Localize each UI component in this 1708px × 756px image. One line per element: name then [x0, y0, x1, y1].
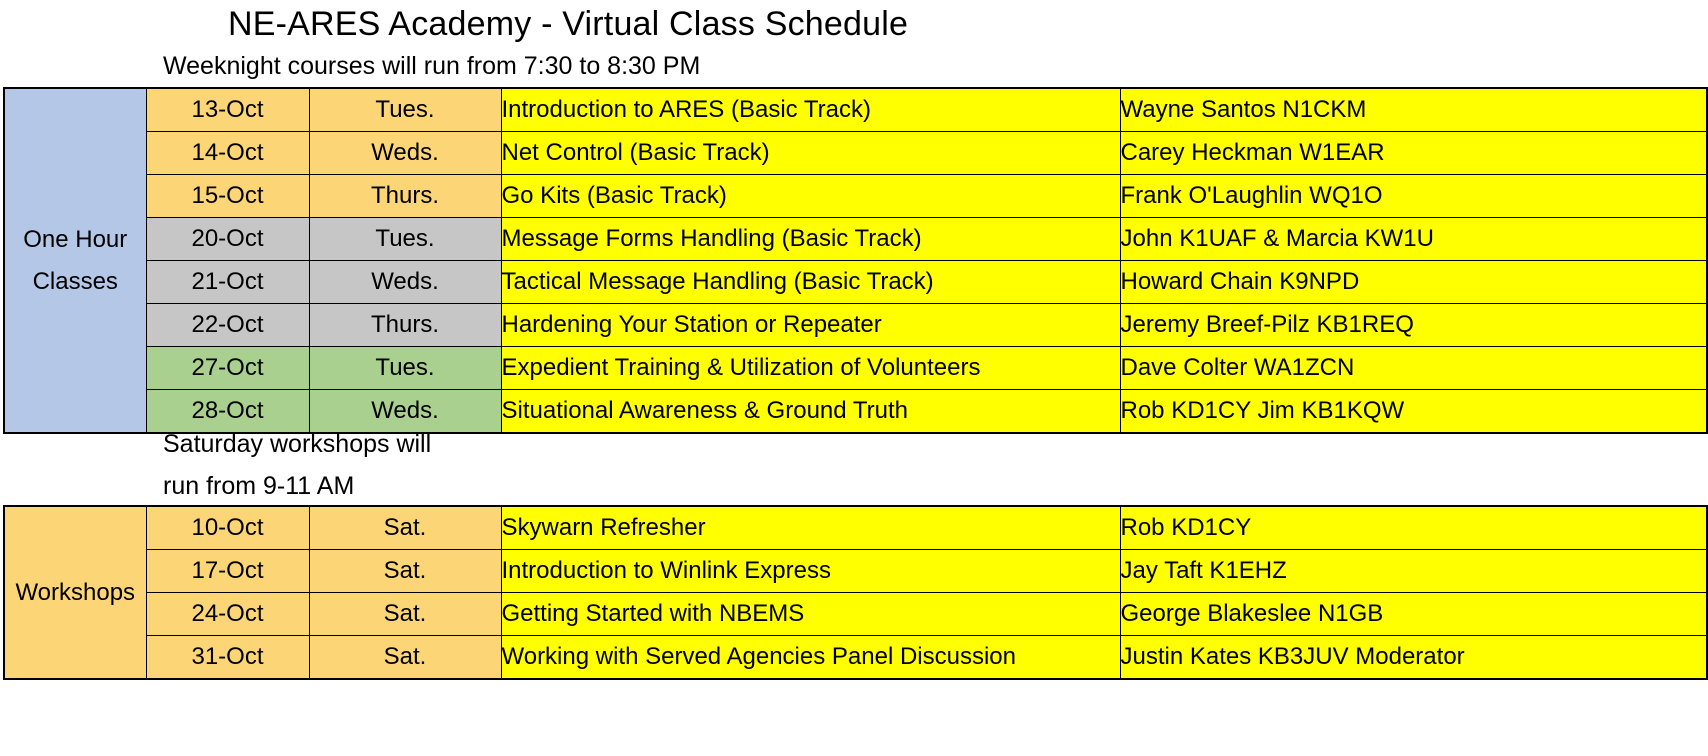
- cell-day: Thurs.: [309, 304, 501, 347]
- table-row: 28-OctWeds.Situational Awareness & Groun…: [4, 390, 1707, 434]
- cell-presenter: Wayne Santos N1CKM: [1120, 88, 1707, 132]
- page-title: NE-ARES Academy - Virtual Class Schedule: [228, 2, 908, 46]
- cell-presenter: Rob KD1CY Jim KB1KQW: [1120, 390, 1707, 434]
- group-label-workshops: Workshops: [4, 506, 146, 679]
- table-row: 24-OctSat.Getting Started with NBEMSGeor…: [4, 593, 1707, 636]
- table-row: 22-OctThurs.Hardening Your Station or Re…: [4, 304, 1707, 347]
- cell-presenter: John K1UAF & Marcia KW1U: [1120, 218, 1707, 261]
- cell-day: Weds.: [309, 132, 501, 175]
- cell-topic: Tactical Message Handling (Basic Track): [501, 261, 1120, 304]
- saturday-schedule-note-line2: run from 9-11 AM: [163, 470, 354, 502]
- table-row: One HourClasses13-OctTues.Introduction t…: [4, 88, 1707, 132]
- cell-date: 13-Oct: [146, 88, 309, 132]
- cell-day: Sat.: [309, 636, 501, 680]
- cell-date: 24-Oct: [146, 593, 309, 636]
- group-label-line2: Classes: [5, 261, 146, 303]
- group-label-line1: One Hour: [5, 219, 146, 261]
- workshops-table: Workshops10-OctSat.Skywarn RefresherRob …: [3, 505, 1708, 680]
- cell-date: 28-Oct: [146, 390, 309, 434]
- cell-date: 31-Oct: [146, 636, 309, 680]
- one-hour-classes-body: One HourClasses13-OctTues.Introduction t…: [4, 88, 1707, 433]
- cell-day: Tues.: [309, 347, 501, 390]
- cell-topic: Skywarn Refresher: [501, 506, 1120, 550]
- cell-topic: Working with Served Agencies Panel Discu…: [501, 636, 1120, 680]
- cell-topic: Hardening Your Station or Repeater: [501, 304, 1120, 347]
- cell-topic: Go Kits (Basic Track): [501, 175, 1120, 218]
- cell-presenter: Rob KD1CY: [1120, 506, 1707, 550]
- cell-date: 27-Oct: [146, 347, 309, 390]
- cell-date: 17-Oct: [146, 550, 309, 593]
- cell-date: 15-Oct: [146, 175, 309, 218]
- cell-presenter: Justin Kates KB3JUV Moderator: [1120, 636, 1707, 680]
- table-row: 17-OctSat.Introduction to Winlink Expres…: [4, 550, 1707, 593]
- cell-day: Weds.: [309, 390, 501, 434]
- cell-topic: Situational Awareness & Ground Truth: [501, 390, 1120, 434]
- one-hour-classes-table: One HourClasses13-OctTues.Introduction t…: [3, 87, 1708, 434]
- cell-date: 20-Oct: [146, 218, 309, 261]
- cell-topic: Introduction to ARES (Basic Track): [501, 88, 1120, 132]
- table-row: Workshops10-OctSat.Skywarn RefresherRob …: [4, 506, 1707, 550]
- cell-topic: Introduction to Winlink Express: [501, 550, 1120, 593]
- cell-day: Weds.: [309, 261, 501, 304]
- cell-presenter: George Blakeslee N1GB: [1120, 593, 1707, 636]
- table-row: 31-OctSat.Working with Served Agencies P…: [4, 636, 1707, 680]
- table-row: 20-OctTues.Message Forms Handling (Basic…: [4, 218, 1707, 261]
- cell-day: Thurs.: [309, 175, 501, 218]
- cell-day: Sat.: [309, 506, 501, 550]
- cell-presenter: Carey Heckman W1EAR: [1120, 132, 1707, 175]
- group-label-one-hour-classes: One HourClasses: [4, 88, 146, 433]
- cell-day: Sat.: [309, 550, 501, 593]
- cell-day: Tues.: [309, 218, 501, 261]
- cell-date: 14-Oct: [146, 132, 309, 175]
- cell-presenter: Jay Taft K1EHZ: [1120, 550, 1707, 593]
- cell-presenter: Dave Colter WA1ZCN: [1120, 347, 1707, 390]
- cell-presenter: Howard Chain K9NPD: [1120, 261, 1707, 304]
- cell-presenter: Jeremy Breef-Pilz KB1REQ: [1120, 304, 1707, 347]
- cell-date: 21-Oct: [146, 261, 309, 304]
- table-row: 27-OctTues.Expedient Training & Utilizat…: [4, 347, 1707, 390]
- weeknight-schedule-note: Weeknight courses will run from 7:30 to …: [163, 50, 700, 82]
- cell-topic: Net Control (Basic Track): [501, 132, 1120, 175]
- cell-day: Sat.: [309, 593, 501, 636]
- cell-date: 22-Oct: [146, 304, 309, 347]
- cell-presenter: Frank O'Laughlin WQ1O: [1120, 175, 1707, 218]
- table-row: 15-OctThurs.Go Kits (Basic Track)Frank O…: [4, 175, 1707, 218]
- cell-day: Tues.: [309, 88, 501, 132]
- table-row: 21-OctWeds.Tactical Message Handling (Ba…: [4, 261, 1707, 304]
- workshops-body: Workshops10-OctSat.Skywarn RefresherRob …: [4, 506, 1707, 679]
- cell-date: 10-Oct: [146, 506, 309, 550]
- cell-topic: Message Forms Handling (Basic Track): [501, 218, 1120, 261]
- table-row: 14-OctWeds.Net Control (Basic Track)Care…: [4, 132, 1707, 175]
- cell-topic: Expedient Training & Utilization of Volu…: [501, 347, 1120, 390]
- cell-topic: Getting Started with NBEMS: [501, 593, 1120, 636]
